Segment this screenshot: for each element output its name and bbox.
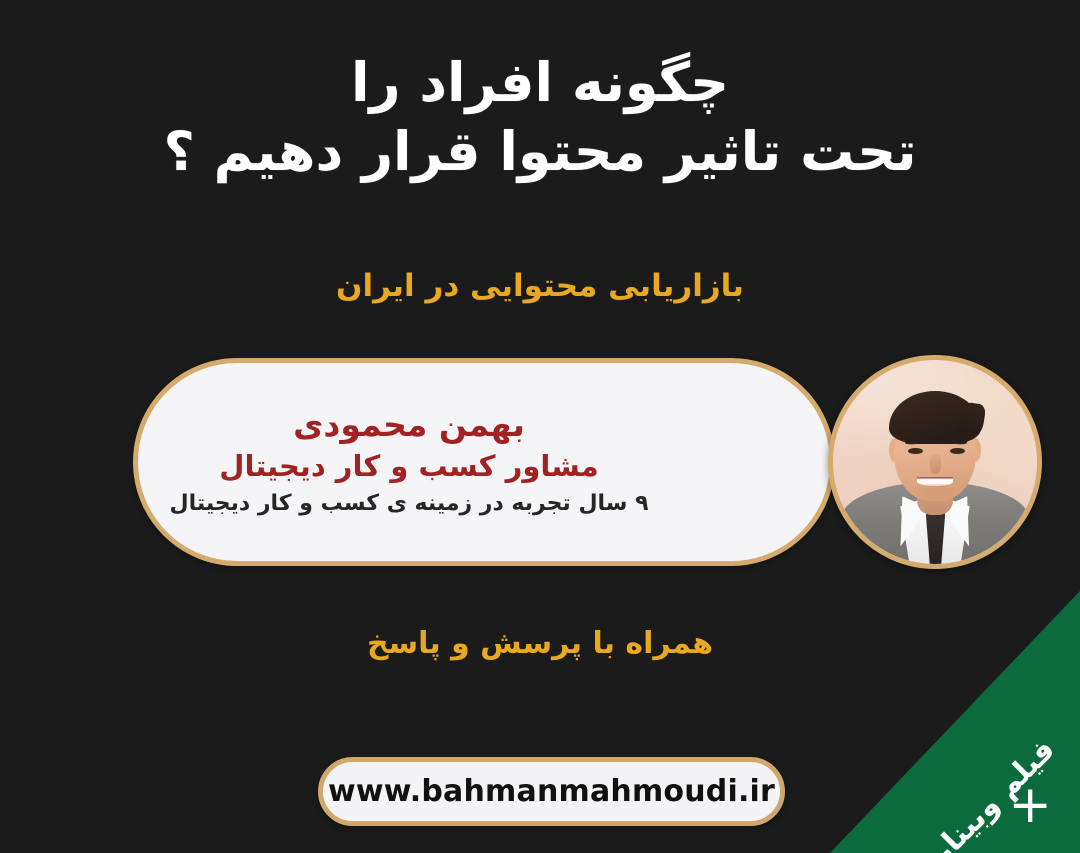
photo-eye-right (950, 448, 964, 454)
plus-icon: + (1008, 779, 1052, 831)
page-title: چگونه افراد را تحت تاثیر محتوا قرار دهیم… (0, 48, 1080, 186)
photo-nose (930, 454, 941, 474)
poster-canvas: چگونه افراد را تحت تاثیر محتوا قرار دهیم… (0, 0, 1080, 853)
photo-eye-left (908, 448, 922, 454)
avatar (828, 355, 1042, 569)
speaker-photo (833, 360, 1037, 564)
speaker-role: مشاور کسب و کار دیجیتال (219, 451, 598, 483)
photo-chin (911, 484, 960, 500)
speaker-experience: ۹ سال تجربه در زمینه ی کسب و کار دیجیتال (169, 491, 648, 516)
headline-line-1: چگونه افراد را (0, 48, 1080, 117)
speaker-card-text: بهمن محمودی مشاور کسب و کار دیجیتال ۹ سا… (138, 363, 680, 561)
speaker-name: بهمن محمودی (293, 407, 525, 443)
website-pill[interactable]: www.bahmanmahmoudi.ir (318, 757, 785, 826)
speaker-card: بهمن محمودی مشاور کسب و کار دیجیتال ۹ سا… (133, 358, 835, 566)
qa-note: همراه با پرسش و پاسخ (0, 626, 1080, 661)
headline-line-2: تحت تاثیر محتوا قرار دهیم ؟ (0, 117, 1080, 186)
website-url: www.bahmanmahmoudi.ir (328, 774, 775, 809)
subtitle: بازاریابی محتوایی در ایران (0, 268, 1080, 304)
